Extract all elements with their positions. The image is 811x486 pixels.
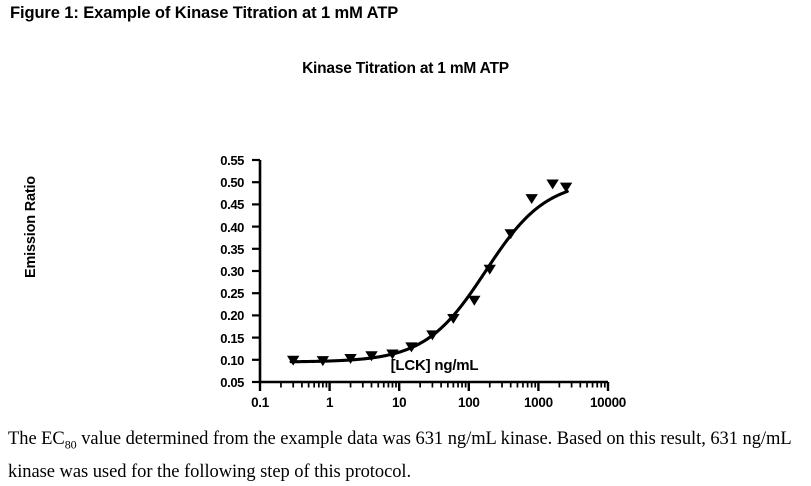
- paragraph-text-rest: value determined from the example data w…: [8, 429, 791, 483]
- ytick-label: 0.20: [198, 308, 244, 323]
- figure-caption: Figure 1: Example of Kinase Titration at…: [10, 4, 398, 23]
- ytick-label: 0.05: [198, 375, 244, 390]
- data-point-marker: [525, 194, 537, 204]
- xtick-label: 100: [434, 395, 504, 410]
- paragraph-text-lead: The EC: [8, 429, 65, 449]
- xtick-label: 0.1: [225, 395, 295, 410]
- ytick-label: 0.55: [198, 153, 244, 168]
- data-point-marker: [505, 229, 517, 239]
- ec80-subscript: 80: [65, 437, 77, 451]
- ytick-label: 0.25: [198, 286, 244, 301]
- xtick-label: 10000: [573, 395, 643, 410]
- fit-curve: [291, 191, 567, 361]
- ytick-label: 0.40: [198, 220, 244, 235]
- xtick-label: 10: [364, 395, 434, 410]
- xtick-label: 1: [295, 395, 365, 410]
- x-axis-major-ticks: [260, 382, 608, 391]
- ytick-label: 0.35: [198, 242, 244, 257]
- body-paragraph: The EC80 value determined from the examp…: [8, 425, 798, 486]
- data-point-marker: [468, 296, 480, 306]
- xtick-label: 1000: [503, 395, 573, 410]
- ytick-label: 0.45: [198, 197, 244, 212]
- x-axis-title: [LCK] ng/mL: [260, 357, 609, 374]
- ytick-label: 0.50: [198, 175, 244, 190]
- data-point-marker: [560, 183, 572, 193]
- ytick-label: 0.15: [198, 331, 244, 346]
- chart-canvas: [0, 52, 811, 392]
- plot-area: 0.05 0.10 0.15 0.20 0.25 0.30 0.35 0.40 …: [0, 52, 811, 392]
- ytick-label: 0.30: [198, 264, 244, 279]
- chart-figure: Kinase Titration at 1 mM ATP: [0, 52, 811, 392]
- y-axis-title: Emission Ratio: [23, 147, 39, 307]
- axis-lines: [259, 160, 608, 382]
- data-point-marker: [546, 179, 558, 189]
- ytick-label: 0.10: [198, 353, 244, 368]
